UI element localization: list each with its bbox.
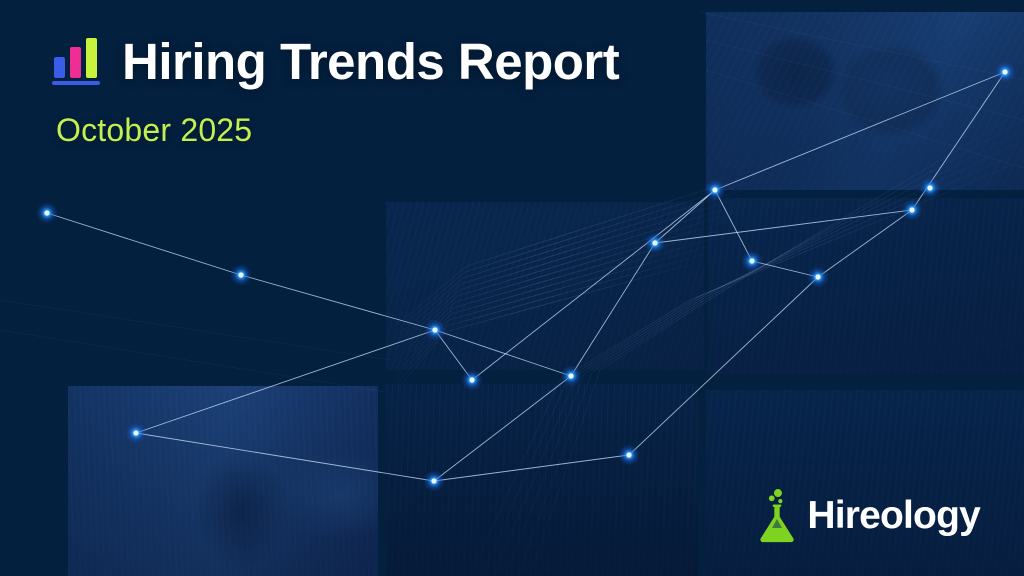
cover-header: Hiring Trends Report October 2025 bbox=[50, 36, 750, 146]
network-node-glow bbox=[230, 264, 252, 286]
photo-mechanics bbox=[386, 384, 698, 576]
report-cover: Hiring Trends Report October 2025 Hireol… bbox=[0, 0, 1024, 576]
hireology-logo: Hireology bbox=[756, 486, 980, 544]
photo-team-workshop bbox=[706, 12, 1024, 190]
flask-icon bbox=[756, 486, 798, 544]
bar-chart-bar-blue bbox=[54, 57, 65, 78]
photo-man-glasses bbox=[386, 202, 704, 370]
bar-chart-icon bbox=[50, 38, 102, 86]
title-row: Hiring Trends Report bbox=[50, 36, 750, 88]
network-node bbox=[44, 210, 49, 215]
network-edge bbox=[47, 213, 241, 275]
photo-woman-dealership bbox=[68, 386, 378, 576]
photo-woman-headset bbox=[708, 198, 1024, 374]
bar-chart-baseline bbox=[52, 81, 100, 85]
network-node bbox=[469, 377, 474, 382]
page-title: Hiring Trends Report bbox=[122, 36, 619, 88]
photo-service-advisors bbox=[706, 390, 1024, 576]
hireology-wordmark: Hireology bbox=[807, 496, 980, 535]
network-node-glow bbox=[36, 202, 58, 224]
network-node bbox=[568, 373, 573, 378]
bar-chart-bar-pink bbox=[70, 47, 81, 78]
network-node bbox=[238, 272, 243, 277]
page-subtitle: October 2025 bbox=[56, 114, 750, 146]
bar-chart-bar-green bbox=[86, 38, 97, 78]
